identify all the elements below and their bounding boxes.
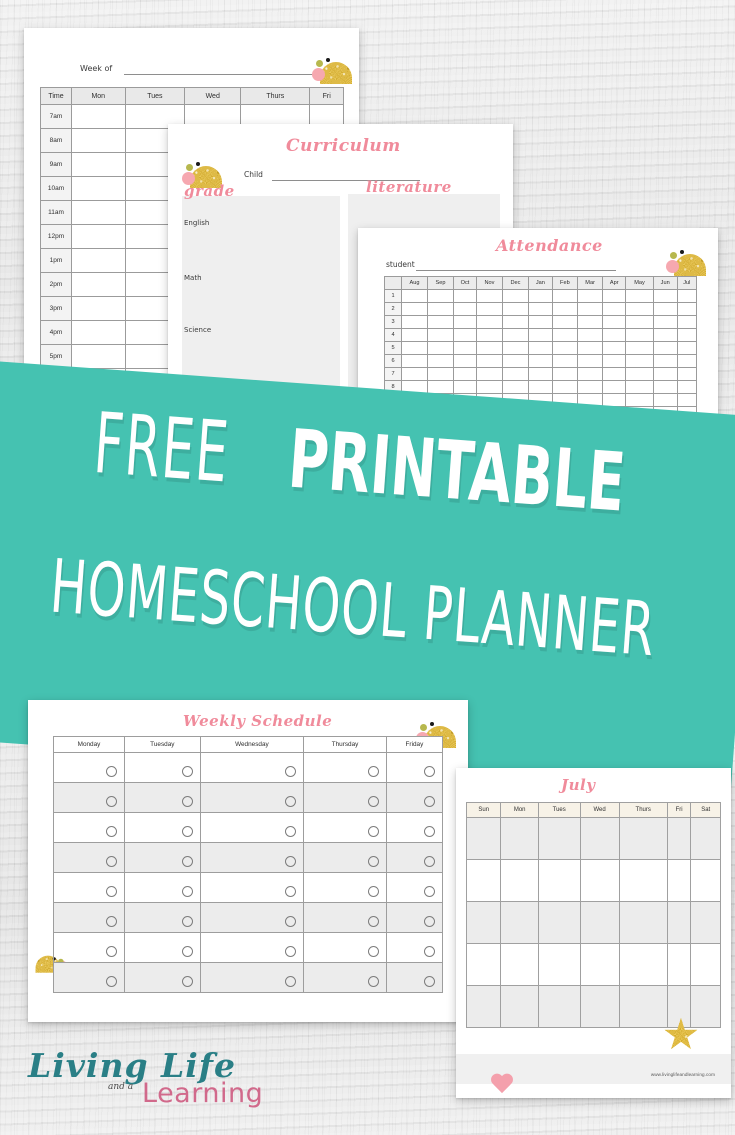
attendance-cell[interactable] bbox=[427, 316, 453, 329]
attendance-cell[interactable] bbox=[578, 368, 603, 381]
checkbox-circle-icon[interactable] bbox=[285, 886, 296, 897]
column-header-tuesday: Tuesday bbox=[125, 737, 201, 753]
attendance-cell[interactable] bbox=[578, 290, 603, 303]
calendar-cell[interactable] bbox=[619, 944, 667, 986]
planner-cell[interactable] bbox=[72, 249, 126, 273]
attendance-cell[interactable] bbox=[578, 329, 603, 342]
checkbox-circle-icon[interactable] bbox=[182, 886, 193, 897]
attendance-cell[interactable] bbox=[402, 368, 428, 381]
attendance-cell[interactable] bbox=[626, 290, 653, 303]
attendance-cell[interactable] bbox=[603, 368, 626, 381]
calendar-cell[interactable] bbox=[538, 818, 580, 860]
attendance-cell[interactable] bbox=[552, 303, 577, 316]
schedule-cell[interactable] bbox=[200, 903, 304, 933]
table-header-row: MondayTuesdayWednesdayThursdayFriday bbox=[54, 737, 443, 753]
planner-cell[interactable] bbox=[72, 201, 126, 225]
column-header-thurs: Thurs bbox=[619, 803, 667, 818]
checkbox-circle-icon[interactable] bbox=[424, 946, 435, 957]
attendance-cell[interactable] bbox=[528, 381, 552, 394]
attendance-cell[interactable] bbox=[552, 368, 577, 381]
row-number: 4 bbox=[385, 329, 402, 342]
schedule-cell[interactable] bbox=[125, 933, 201, 963]
hedgehog-icon bbox=[666, 250, 706, 276]
attendance-cell[interactable] bbox=[453, 290, 476, 303]
calendar-cell[interactable] bbox=[538, 902, 580, 944]
schedule-cell[interactable] bbox=[125, 753, 201, 783]
checkbox-circle-icon[interactable] bbox=[368, 976, 379, 987]
attendance-cell[interactable] bbox=[528, 303, 552, 316]
schedule-cell[interactable] bbox=[54, 873, 125, 903]
calendar-cell[interactable] bbox=[667, 860, 691, 902]
attendance-cell[interactable] bbox=[578, 355, 603, 368]
schedule-cell[interactable] bbox=[54, 843, 125, 873]
schedule-cell[interactable] bbox=[304, 753, 387, 783]
time-label: 10am bbox=[41, 177, 72, 201]
attendance-cell[interactable] bbox=[578, 342, 603, 355]
attendance-cell[interactable] bbox=[402, 329, 428, 342]
attendance-cell[interactable] bbox=[476, 381, 502, 394]
column-header-sun: Sun bbox=[467, 803, 501, 818]
attendance-cell[interactable] bbox=[402, 316, 428, 329]
calendar-cell[interactable] bbox=[538, 860, 580, 902]
brand-and-a: and a bbox=[108, 1082, 133, 1092]
attendance-cell[interactable] bbox=[603, 329, 626, 342]
table-row bbox=[54, 783, 443, 813]
calendar-cell[interactable] bbox=[538, 944, 580, 986]
checkbox-circle-icon[interactable] bbox=[285, 826, 296, 837]
row-number: 6 bbox=[385, 355, 402, 368]
row-number: 7 bbox=[385, 368, 402, 381]
checkbox-circle-icon[interactable] bbox=[182, 766, 193, 777]
schedule-cell[interactable] bbox=[304, 843, 387, 873]
attendance-cell[interactable] bbox=[626, 329, 653, 342]
checkbox-circle-icon[interactable] bbox=[106, 886, 117, 897]
calendar-cell[interactable] bbox=[580, 902, 619, 944]
checkbox-circle-icon[interactable] bbox=[182, 796, 193, 807]
calendar-cell[interactable] bbox=[667, 944, 691, 986]
attendance-cell[interactable] bbox=[578, 303, 603, 316]
calendar-cell[interactable] bbox=[580, 860, 619, 902]
calendar-cell[interactable] bbox=[580, 818, 619, 860]
schedule-cell[interactable] bbox=[200, 753, 304, 783]
hedgehog-face bbox=[666, 260, 679, 273]
attendance-cell[interactable] bbox=[528, 329, 552, 342]
attendance-cell[interactable] bbox=[528, 355, 552, 368]
schedule-cell[interactable] bbox=[304, 933, 387, 963]
planner-cell[interactable] bbox=[72, 345, 126, 369]
schedule-cell[interactable] bbox=[304, 783, 387, 813]
attendance-cell[interactable] bbox=[603, 342, 626, 355]
attendance-cell[interactable] bbox=[653, 342, 677, 355]
checkbox-circle-icon[interactable] bbox=[368, 946, 379, 957]
attendance-cell[interactable] bbox=[677, 329, 696, 342]
attendance-cell[interactable] bbox=[626, 368, 653, 381]
schedule-cell[interactable] bbox=[386, 843, 442, 873]
attendance-cell[interactable] bbox=[603, 316, 626, 329]
attendance-cell[interactable] bbox=[626, 381, 653, 394]
attendance-cell[interactable] bbox=[402, 342, 428, 355]
column-header-nov: Nov bbox=[476, 277, 502, 290]
attendance-cell[interactable] bbox=[502, 381, 528, 394]
attendance-cell[interactable] bbox=[502, 368, 528, 381]
attendance-cell[interactable] bbox=[653, 381, 677, 394]
attendance-cell[interactable] bbox=[603, 290, 626, 303]
calendar-cell[interactable] bbox=[619, 860, 667, 902]
attendance-cell[interactable] bbox=[677, 368, 696, 381]
schedule-cell[interactable] bbox=[54, 933, 125, 963]
planner-cell[interactable] bbox=[72, 105, 126, 129]
column-header-tues: Tues bbox=[125, 88, 185, 105]
schedule-cell[interactable] bbox=[125, 783, 201, 813]
table-row: 3 bbox=[385, 316, 697, 329]
attendance-cell[interactable] bbox=[476, 303, 502, 316]
column-header-jul: Jul bbox=[677, 277, 696, 290]
student-write-line bbox=[416, 270, 616, 271]
schedule-cell[interactable] bbox=[304, 813, 387, 843]
checkbox-circle-icon[interactable] bbox=[368, 886, 379, 897]
attendance-cell[interactable] bbox=[653, 290, 677, 303]
checkbox-circle-icon[interactable] bbox=[424, 826, 435, 837]
checkbox-circle-icon[interactable] bbox=[368, 826, 379, 837]
attendance-cell[interactable] bbox=[476, 368, 502, 381]
column-header-friday: Friday bbox=[386, 737, 442, 753]
column-header-jan: Jan bbox=[528, 277, 552, 290]
calendar-cell[interactable] bbox=[501, 860, 538, 902]
column-header-feb: Feb bbox=[552, 277, 577, 290]
calendar-cell[interactable] bbox=[467, 860, 501, 902]
table-row: 5 bbox=[385, 342, 697, 355]
calendar-cell[interactable] bbox=[667, 818, 691, 860]
attendance-cell[interactable] bbox=[476, 290, 502, 303]
planner-cell[interactable] bbox=[72, 225, 126, 249]
attendance-cell[interactable] bbox=[626, 342, 653, 355]
attendance-cell[interactable] bbox=[528, 368, 552, 381]
planner-cell[interactable] bbox=[72, 153, 126, 177]
subject-math: Math bbox=[184, 274, 202, 282]
schedule-cell[interactable] bbox=[386, 933, 442, 963]
attendance-cell[interactable] bbox=[502, 329, 528, 342]
calendar-cell[interactable] bbox=[501, 818, 538, 860]
attendance-title: Attendance bbox=[496, 236, 603, 255]
attendance-cell[interactable] bbox=[502, 316, 528, 329]
attendance-cell[interactable] bbox=[427, 368, 453, 381]
table-row: 1 bbox=[385, 290, 697, 303]
checkbox-circle-icon[interactable] bbox=[368, 856, 379, 867]
calendar-cell[interactable] bbox=[619, 986, 667, 1028]
attendance-cell[interactable] bbox=[427, 355, 453, 368]
schedule-cell[interactable] bbox=[200, 873, 304, 903]
attendance-cell[interactable] bbox=[402, 355, 428, 368]
hedgehog-eye bbox=[196, 162, 200, 166]
column-header-mar: Mar bbox=[578, 277, 603, 290]
column-header-sat: Sat bbox=[691, 803, 721, 818]
attendance-cell[interactable] bbox=[427, 303, 453, 316]
schedule-cell[interactable] bbox=[304, 873, 387, 903]
attendance-cell[interactable] bbox=[402, 303, 428, 316]
attendance-cell[interactable] bbox=[552, 342, 577, 355]
column-header-dec: Dec bbox=[502, 277, 528, 290]
checkbox-circle-icon[interactable] bbox=[285, 766, 296, 777]
planner-cell[interactable] bbox=[72, 129, 126, 153]
column-header-may: May bbox=[626, 277, 653, 290]
attendance-cell[interactable] bbox=[677, 381, 696, 394]
schedule-cell[interactable] bbox=[200, 843, 304, 873]
schedule-cell[interactable] bbox=[304, 963, 387, 993]
checkbox-circle-icon[interactable] bbox=[285, 856, 296, 867]
schedule-cell[interactable] bbox=[125, 813, 201, 843]
row-number: 2 bbox=[385, 303, 402, 316]
table-row bbox=[54, 753, 443, 783]
table-row bbox=[54, 813, 443, 843]
checkbox-circle-icon[interactable] bbox=[182, 826, 193, 837]
column-header-wed: Wed bbox=[185, 88, 241, 105]
attendance-cell[interactable] bbox=[502, 303, 528, 316]
calendar-cell[interactable] bbox=[691, 818, 721, 860]
calendar-cell[interactable] bbox=[691, 902, 721, 944]
time-label: 7am bbox=[41, 105, 72, 129]
checkbox-circle-icon[interactable] bbox=[424, 796, 435, 807]
attendance-cell[interactable] bbox=[502, 342, 528, 355]
calendar-cell[interactable] bbox=[619, 902, 667, 944]
attendance-cell[interactable] bbox=[677, 342, 696, 355]
calendar-cell[interactable] bbox=[580, 944, 619, 986]
row-number: 5 bbox=[385, 342, 402, 355]
attendance-cell[interactable] bbox=[653, 316, 677, 329]
calendar-cell[interactable] bbox=[538, 986, 580, 1028]
column-header-thurs: Thurs bbox=[241, 88, 310, 105]
checkbox-circle-icon[interactable] bbox=[106, 796, 117, 807]
attendance-cell[interactable] bbox=[453, 303, 476, 316]
attendance-cell[interactable] bbox=[653, 368, 677, 381]
attendance-cell[interactable] bbox=[626, 316, 653, 329]
calendar-cell[interactable] bbox=[467, 818, 501, 860]
column-header-tues: Tues bbox=[538, 803, 580, 818]
attendance-cell[interactable] bbox=[552, 355, 577, 368]
child-label: Child bbox=[244, 170, 263, 179]
time-label: 1pm bbox=[41, 249, 72, 273]
checkbox-circle-icon[interactable] bbox=[368, 766, 379, 777]
column-header-mon: Mon bbox=[501, 803, 538, 818]
week-of-write-line bbox=[124, 74, 332, 75]
schedule-cell[interactable] bbox=[125, 963, 201, 993]
schedule-cell[interactable] bbox=[125, 873, 201, 903]
schedule-cell[interactable] bbox=[125, 903, 201, 933]
table-row bbox=[54, 933, 443, 963]
calendar-cell[interactable] bbox=[667, 902, 691, 944]
attendance-cell[interactable] bbox=[653, 394, 677, 407]
checkbox-circle-icon[interactable] bbox=[424, 916, 435, 927]
calendar-cell[interactable] bbox=[501, 986, 538, 1028]
attendance-cell[interactable] bbox=[603, 303, 626, 316]
column-header-fri: Fri bbox=[667, 803, 691, 818]
attendance-cell[interactable] bbox=[677, 316, 696, 329]
hedgehog-ear bbox=[420, 724, 427, 731]
attendance-cell[interactable] bbox=[677, 290, 696, 303]
checkbox-circle-icon[interactable] bbox=[106, 946, 117, 957]
attendance-cell[interactable] bbox=[603, 381, 626, 394]
calendar-cell[interactable] bbox=[501, 902, 538, 944]
attendance-cell[interactable] bbox=[476, 329, 502, 342]
schedule-cell[interactable] bbox=[125, 843, 201, 873]
schedule-cell[interactable] bbox=[386, 873, 442, 903]
schedule-cell[interactable] bbox=[386, 903, 442, 933]
checkbox-circle-icon[interactable] bbox=[182, 946, 193, 957]
checkbox-circle-icon[interactable] bbox=[285, 796, 296, 807]
hedgehog-eye bbox=[430, 722, 434, 726]
schedule-cell[interactable] bbox=[200, 933, 304, 963]
sheet-july-calendar[interactable]: July SunMonTuesWedThursFriSat www.living… bbox=[456, 768, 731, 1098]
attendance-cell[interactable] bbox=[626, 355, 653, 368]
attendance-cell[interactable] bbox=[653, 355, 677, 368]
schedule-cell[interactable] bbox=[386, 963, 442, 993]
checkbox-circle-icon[interactable] bbox=[285, 976, 296, 987]
checkbox-circle-icon[interactable] bbox=[424, 886, 435, 897]
calendar-cell[interactable] bbox=[467, 944, 501, 986]
subject-english: English bbox=[184, 219, 209, 227]
sheet-attendance[interactable]: Attendance student AugSepOctNovDecJanFeb… bbox=[358, 228, 718, 418]
schedule-cell[interactable] bbox=[386, 813, 442, 843]
attendance-cell[interactable] bbox=[677, 303, 696, 316]
checkbox-circle-icon[interactable] bbox=[182, 856, 193, 867]
attendance-cell[interactable] bbox=[453, 368, 476, 381]
attendance-cell[interactable] bbox=[453, 355, 476, 368]
attendance-cell[interactable] bbox=[453, 381, 476, 394]
table-row: 7 bbox=[385, 368, 697, 381]
schedule-cell[interactable] bbox=[54, 753, 125, 783]
attendance-cell[interactable] bbox=[578, 381, 603, 394]
attendance-cell[interactable] bbox=[626, 394, 653, 407]
attendance-cell[interactable] bbox=[427, 381, 453, 394]
curriculum-column-literature: literature bbox=[366, 178, 452, 196]
checkbox-circle-icon[interactable] bbox=[106, 766, 117, 777]
checkbox-circle-icon[interactable] bbox=[424, 856, 435, 867]
column-header-time: Time bbox=[41, 88, 72, 105]
table-row bbox=[54, 873, 443, 903]
schedule-cell[interactable] bbox=[386, 783, 442, 813]
attendance-cell[interactable] bbox=[653, 329, 677, 342]
attendance-cell[interactable] bbox=[528, 316, 552, 329]
attendance-cell[interactable] bbox=[578, 316, 603, 329]
attendance-cell[interactable] bbox=[502, 290, 528, 303]
schedule-cell[interactable] bbox=[54, 903, 125, 933]
column-header-jun: Jun bbox=[653, 277, 677, 290]
hedgehog-ear bbox=[316, 60, 323, 67]
table-row bbox=[467, 902, 721, 944]
row-number: 3 bbox=[385, 316, 402, 329]
calendar-cell[interactable] bbox=[580, 986, 619, 1028]
column-header-fri: Fri bbox=[310, 88, 344, 105]
attendance-cell[interactable] bbox=[653, 303, 677, 316]
checkbox-circle-icon[interactable] bbox=[106, 856, 117, 867]
planner-cell[interactable] bbox=[72, 321, 126, 345]
calendar-cell[interactable] bbox=[667, 986, 691, 1028]
attendance-cell[interactable] bbox=[427, 290, 453, 303]
table-row bbox=[54, 843, 443, 873]
checkbox-circle-icon[interactable] bbox=[106, 826, 117, 837]
planner-cell[interactable] bbox=[72, 177, 126, 201]
attendance-cell[interactable] bbox=[453, 329, 476, 342]
july-calendar-table: SunMonTuesWedThursFriSat bbox=[466, 802, 721, 1028]
hedgehog-face bbox=[312, 68, 325, 81]
attendance-cell[interactable] bbox=[476, 342, 502, 355]
checkbox-circle-icon[interactable] bbox=[368, 796, 379, 807]
attendance-cell[interactable] bbox=[427, 329, 453, 342]
attendance-cell[interactable] bbox=[552, 381, 577, 394]
attendance-cell[interactable] bbox=[626, 303, 653, 316]
schedule-cell[interactable] bbox=[54, 963, 125, 993]
attendance-cell[interactable] bbox=[677, 355, 696, 368]
checkbox-circle-icon[interactable] bbox=[368, 916, 379, 927]
sheet-weekly-schedule[interactable]: Weekly Schedule MondayTuesdayWednesdayTh… bbox=[28, 700, 468, 1022]
schedule-cell[interactable] bbox=[304, 903, 387, 933]
attendance-cell[interactable] bbox=[552, 329, 577, 342]
column-header-mon: Mon bbox=[72, 88, 126, 105]
schedule-cell[interactable] bbox=[54, 813, 125, 843]
checkbox-circle-icon[interactable] bbox=[424, 766, 435, 777]
attendance-cell[interactable] bbox=[476, 316, 502, 329]
attendance-cell[interactable] bbox=[502, 355, 528, 368]
table-row bbox=[467, 944, 721, 986]
attendance-cell[interactable] bbox=[677, 394, 696, 407]
calendar-cell[interactable] bbox=[619, 818, 667, 860]
attendance-cell[interactable] bbox=[476, 355, 502, 368]
checkbox-circle-icon[interactable] bbox=[424, 976, 435, 987]
attendance-cell[interactable] bbox=[552, 290, 577, 303]
calendar-cell[interactable] bbox=[501, 944, 538, 986]
attendance-cell[interactable] bbox=[552, 316, 577, 329]
time-label: 2pm bbox=[41, 273, 72, 297]
planner-cell[interactable] bbox=[72, 297, 126, 321]
schedule-cell[interactable] bbox=[54, 783, 125, 813]
checkbox-circle-icon[interactable] bbox=[182, 916, 193, 927]
attendance-cell[interactable] bbox=[402, 290, 428, 303]
attendance-cell[interactable] bbox=[528, 342, 552, 355]
calendar-cell[interactable] bbox=[691, 860, 721, 902]
hedgehog-eye bbox=[326, 58, 330, 62]
checkbox-circle-icon[interactable] bbox=[285, 916, 296, 927]
calendar-cell[interactable] bbox=[691, 944, 721, 986]
column-header-apr: Apr bbox=[603, 277, 626, 290]
calendar-cell[interactable] bbox=[691, 986, 721, 1028]
planner-cell[interactable] bbox=[72, 273, 126, 297]
column-header-oct: Oct bbox=[453, 277, 476, 290]
time-label: 8am bbox=[41, 129, 72, 153]
attendance-cell[interactable] bbox=[427, 342, 453, 355]
subject-science: Science bbox=[184, 326, 211, 334]
attendance-cell[interactable] bbox=[603, 355, 626, 368]
calendar-cell[interactable] bbox=[467, 902, 501, 944]
attendance-cell[interactable] bbox=[453, 342, 476, 355]
checkbox-circle-icon[interactable] bbox=[106, 976, 117, 987]
schedule-cell[interactable] bbox=[200, 963, 304, 993]
time-label: 3pm bbox=[41, 297, 72, 321]
checkbox-circle-icon[interactable] bbox=[285, 946, 296, 957]
column-header-sep: Sep bbox=[427, 277, 453, 290]
calendar-cell[interactable] bbox=[467, 986, 501, 1028]
time-label: 4pm bbox=[41, 321, 72, 345]
row-number: 1 bbox=[385, 290, 402, 303]
attendance-cell[interactable] bbox=[528, 290, 552, 303]
time-label: 12pm bbox=[41, 225, 72, 249]
table-row bbox=[54, 963, 443, 993]
checkbox-circle-icon[interactable] bbox=[182, 976, 193, 987]
schedule-cell[interactable] bbox=[386, 753, 442, 783]
schedule-cell[interactable] bbox=[200, 813, 304, 843]
attendance-cell[interactable] bbox=[453, 316, 476, 329]
schedule-cell[interactable] bbox=[200, 783, 304, 813]
curriculum-column-grade: grade bbox=[184, 182, 235, 200]
checkbox-circle-icon[interactable] bbox=[106, 916, 117, 927]
